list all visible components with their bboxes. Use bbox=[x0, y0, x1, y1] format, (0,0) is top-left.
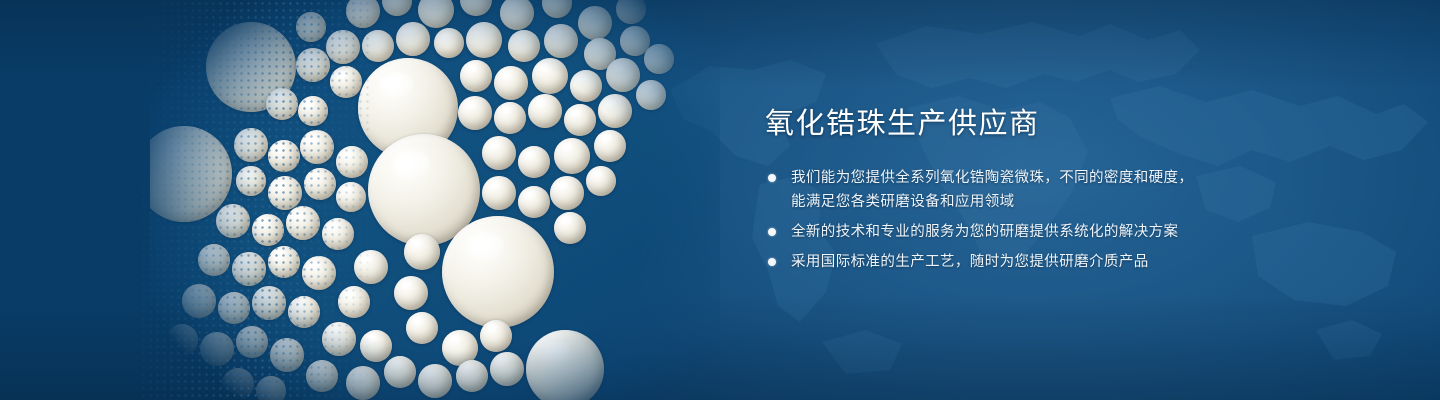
bullet-dot-icon bbox=[768, 174, 776, 182]
list-item-line-2: 能满足您各类研磨设备和应用领域 bbox=[791, 190, 1365, 214]
list-item-line-1: 全新的技术和专业的服务为您的研磨提供系统化的解决方案 bbox=[791, 224, 1178, 240]
page-title: 氧化锆珠生产供应商 bbox=[765, 104, 1365, 144]
bullet-dot-icon bbox=[768, 228, 776, 236]
list-item: 我们能为您提供全系列氧化锆陶瓷微珠，不同的密度和硬度， 能满足您各类研磨设备和应… bbox=[765, 166, 1365, 214]
feature-list: 我们能为您提供全系列氧化锆陶瓷微珠，不同的密度和硬度， 能满足您各类研磨设备和应… bbox=[765, 166, 1365, 274]
list-item-line-1: 我们能为您提供全系列氧化锆陶瓷微珠，不同的密度和硬度， bbox=[791, 170, 1193, 186]
zirconia-beads-photo bbox=[150, 0, 720, 400]
banner-copy: 氧化锆珠生产供应商 我们能为您提供全系列氧化锆陶瓷微珠，不同的密度和硬度， 能满… bbox=[765, 104, 1365, 280]
list-item: 采用国际标准的生产工艺，随时为您提供研磨介质产品 bbox=[765, 250, 1365, 274]
list-item-line-1: 采用国际标准的生产工艺，随时为您提供研磨介质产品 bbox=[791, 254, 1149, 270]
bullet-dot-icon bbox=[768, 258, 776, 266]
list-item: 全新的技术和专业的服务为您的研磨提供系统化的解决方案 bbox=[765, 220, 1365, 244]
hero-banner: 氧化锆珠生产供应商 我们能为您提供全系列氧化锆陶瓷微珠，不同的密度和硬度， 能满… bbox=[0, 0, 1440, 400]
